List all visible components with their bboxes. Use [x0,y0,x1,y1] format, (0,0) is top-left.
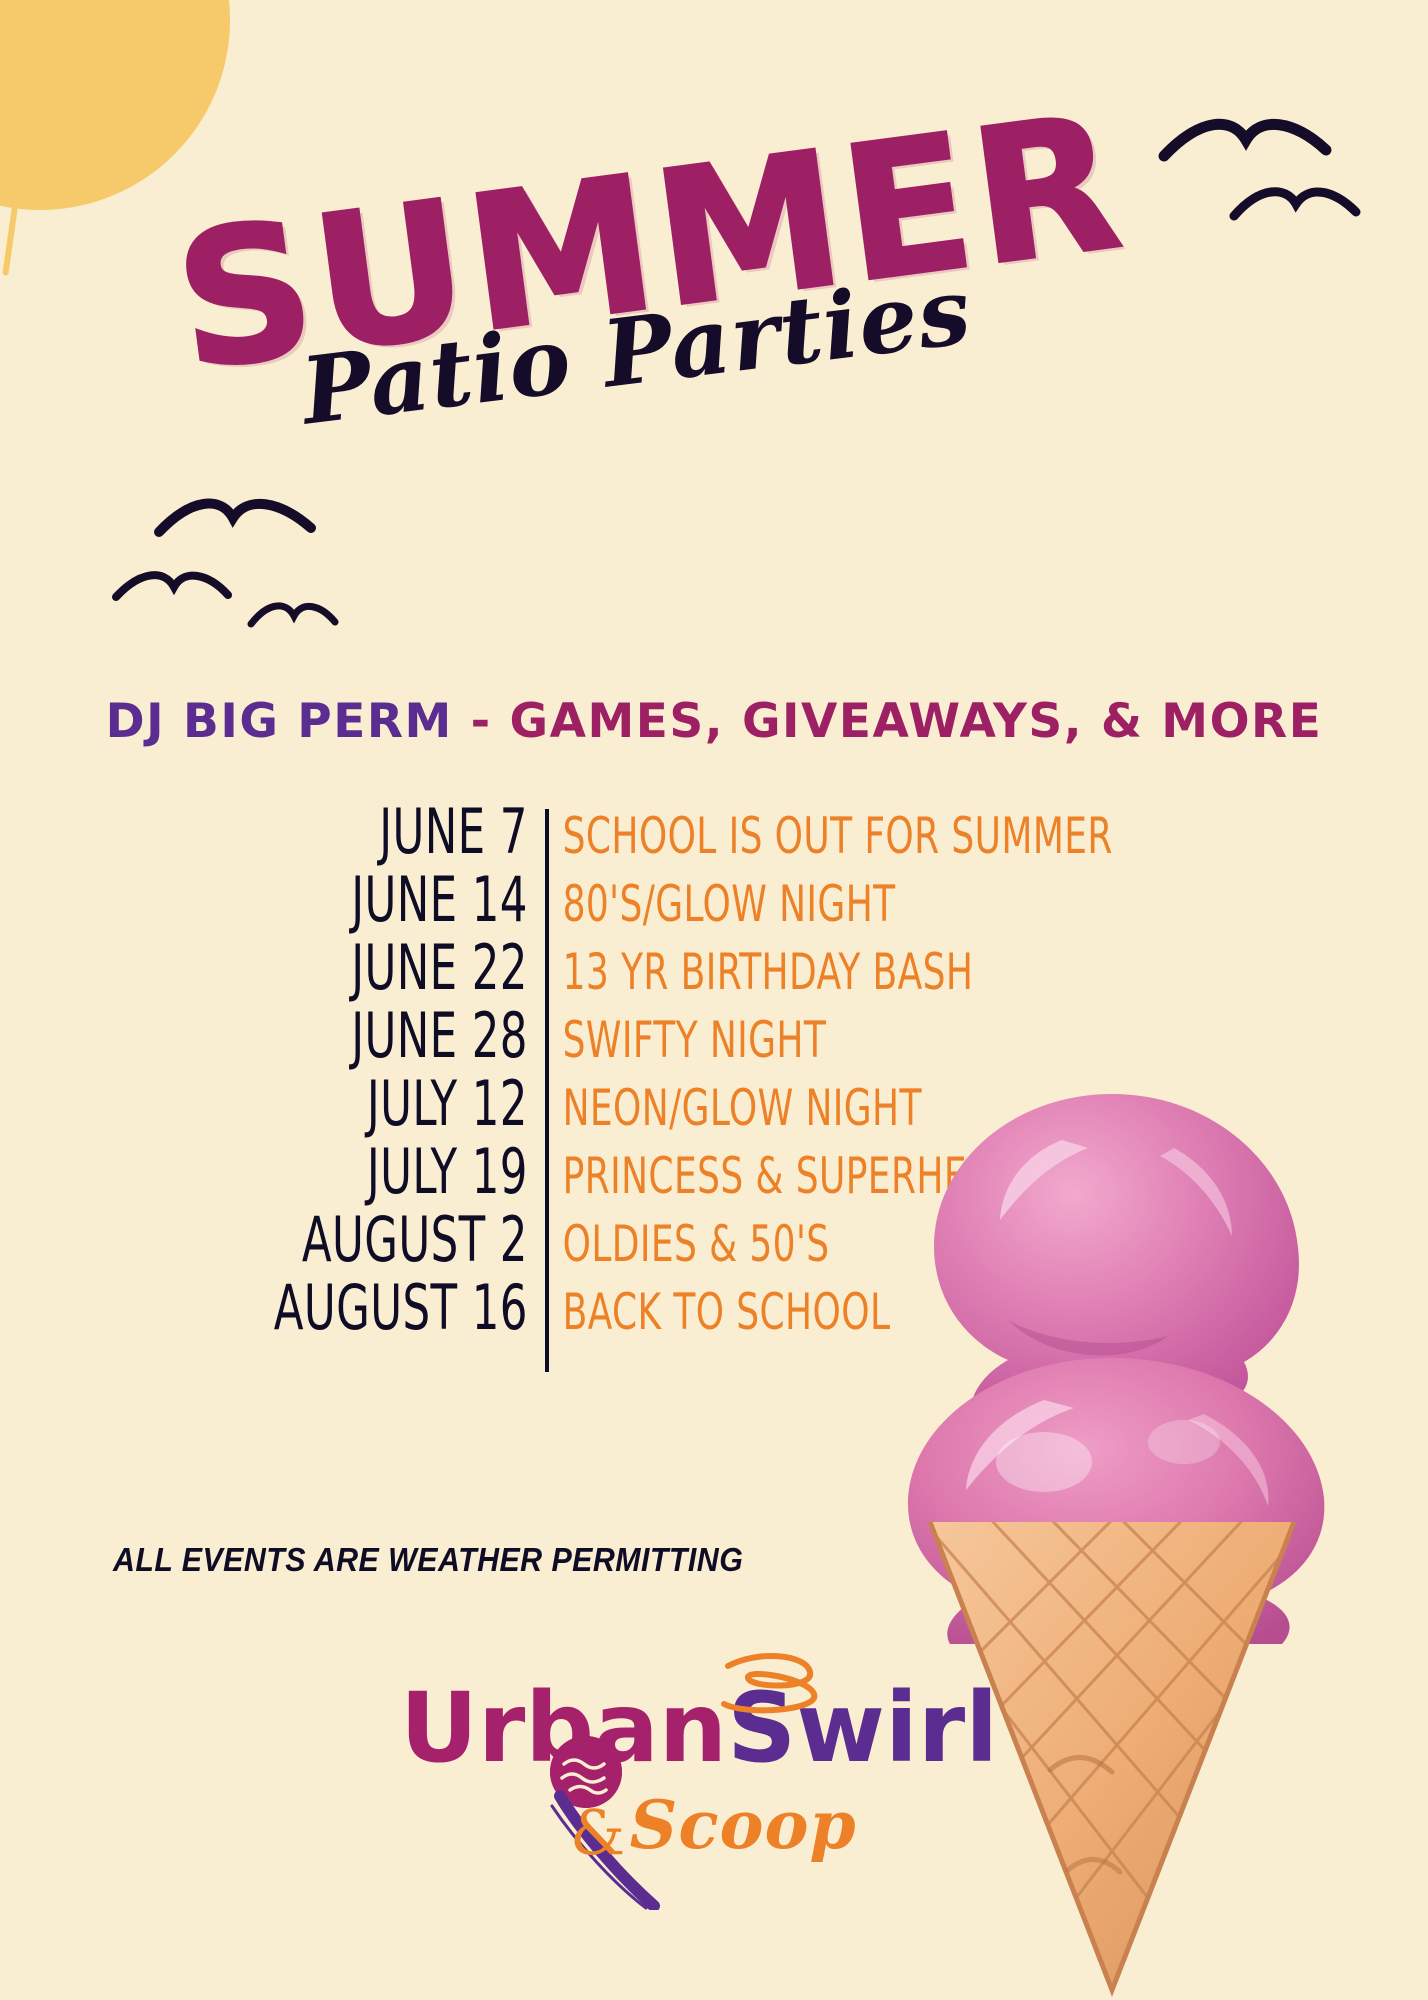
schedule-date: AUGUST 2 [120,1203,545,1276]
bird-icon [112,565,232,609]
schedule-date: JUNE 14 [120,863,545,936]
schedule-date: JUNE 7 [120,795,545,868]
summer-patio-parties-poster: SUMMER Patio Parties DJ BIG PERM - GAMES… [0,0,1428,2000]
subtitle-line: DJ BIG PERM - GAMES, GIVEAWAYS, & MORE [0,694,1428,749]
schedule-date: AUGUST 16 [120,1271,545,1344]
table-row: JUNE 28 SWIFTY NIGHT [0,999,1428,1067]
schedule-event: 13 YR BIRTHDAY BASH [545,943,973,1001]
bird-icon [248,598,338,632]
poster-headline: SUMMER Patio Parties [0,110,1428,490]
subtitle-extras: - GAMES, GIVEAWAYS, & MORE [471,694,1323,749]
schedule-date: JULY 19 [120,1135,545,1208]
weather-note: ALL EVENTS ARE WEATHER PERMITTING [113,1541,743,1579]
schedule-event: SWIFTY NIGHT [545,1011,826,1069]
logo-ampersand: & [570,1796,625,1869]
schedule-event: OLDIES & 50'S [545,1215,830,1273]
ice-cream-cone-icon [812,1070,1428,2000]
schedule-event: SCHOOL IS OUT FOR SUMMER [545,807,1113,865]
schedule-date: JUNE 22 [120,931,545,1004]
table-row: JUNE 14 80'S/GLOW NIGHT [0,863,1428,931]
schedule-date: JUNE 28 [120,999,545,1072]
subtitle-dj: DJ BIG PERM [106,694,453,749]
schedule-event: 80'S/GLOW NIGHT [545,875,896,933]
bird-icon [155,490,315,546]
table-row: JUNE 7 SCHOOL IS OUT FOR SUMMER [0,795,1428,863]
table-row: JUNE 22 13 YR BIRTHDAY BASH [0,931,1428,999]
schedule-date: JULY 12 [120,1067,545,1140]
